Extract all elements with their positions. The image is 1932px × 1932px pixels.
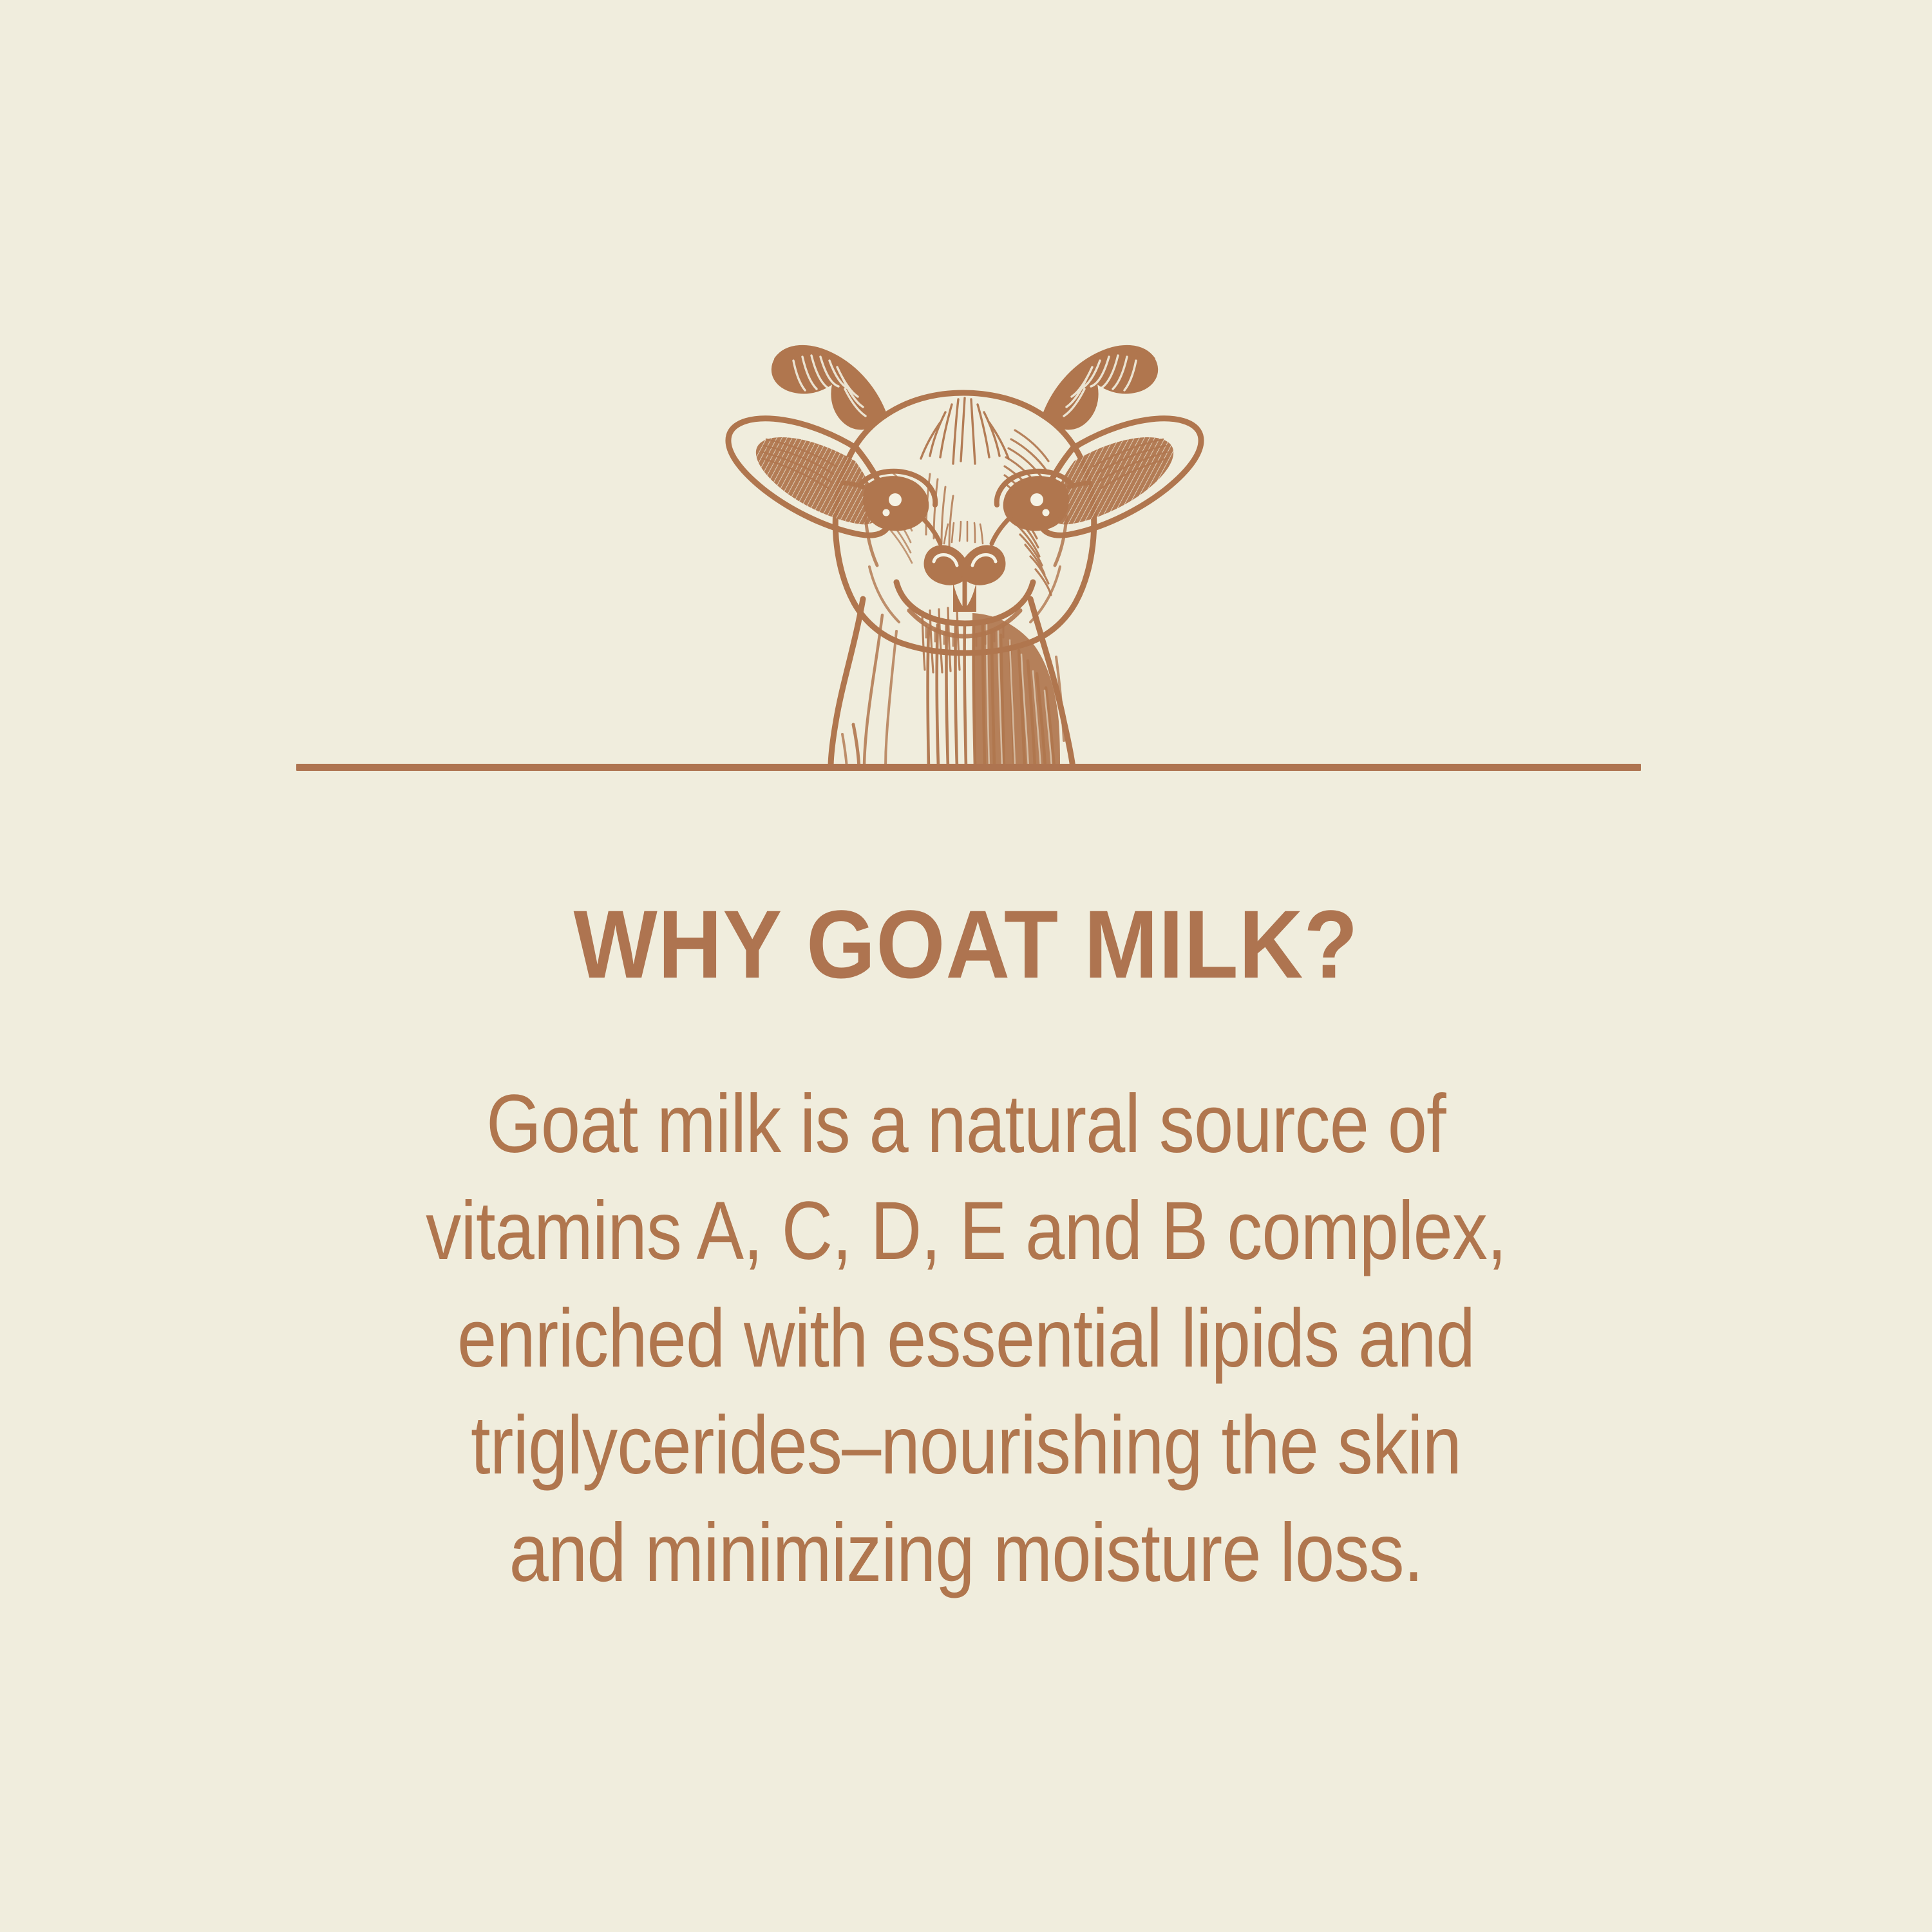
paragraph-line: Goat milk is a natural source of [135, 1071, 1797, 1178]
body-paragraph: Goat milk is a natural source of vitamin… [135, 1071, 1797, 1607]
goat-eyes [842, 471, 1090, 565]
goat-head-line-art [670, 322, 1262, 773]
paragraph-line: enriched with essential lipids and [135, 1285, 1797, 1392]
goat-forelock [921, 398, 1009, 464]
page-title: WHY GOAT MILK? [77, 895, 1855, 994]
goat-milk-info-card: WHY GOAT MILK? Goat milk is a natural so… [0, 0, 1932, 1932]
horizontal-rule [296, 764, 1641, 771]
text-block: WHY GOAT MILK? Goat milk is a natural so… [0, 895, 1932, 1607]
paragraph-line: triglycerides–nourishing the skin [135, 1392, 1797, 1499]
goat-illustration-svg [670, 322, 1262, 773]
paragraph-line: and minimizing moisture loss. [135, 1500, 1797, 1607]
paragraph-line: vitamins A, C, D, E and B complex, [135, 1178, 1797, 1285]
goat-ears [728, 419, 1201, 535]
